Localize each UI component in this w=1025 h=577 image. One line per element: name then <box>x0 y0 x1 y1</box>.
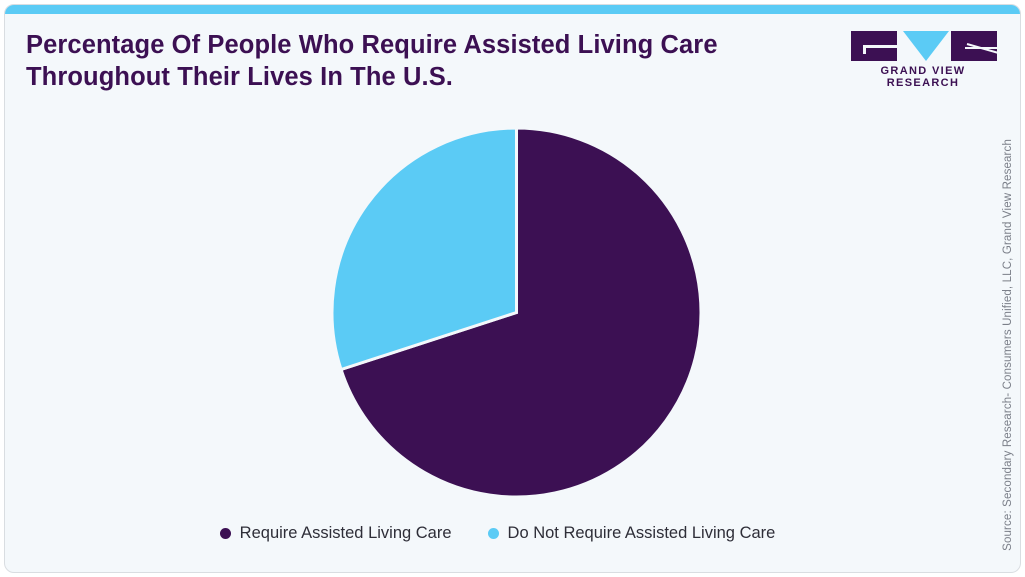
legend-label-require: Require Assisted Living Care <box>240 523 452 543</box>
pie-chart-svg <box>332 128 701 497</box>
chart-legend: Require Assisted Living Care Do Not Requ… <box>5 523 990 543</box>
grand-view-research-logo: GRAND VIEW RESEARCH <box>847 31 999 81</box>
source-note: Source: Secondary Research- Consumers Un… <box>1002 101 1014 551</box>
source-note-text: Source: Secondary Research- Consumers Un… <box>1002 139 1014 551</box>
logo-marks <box>847 31 999 61</box>
legend-dot-icon-require <box>220 528 231 539</box>
pie-slices <box>332 128 701 497</box>
logo-v-icon <box>903 31 949 61</box>
page-title: Percentage Of People Who Require Assiste… <box>26 29 796 93</box>
legend-item-require[interactable]: Require Assisted Living Care <box>220 523 452 543</box>
logo-g-icon <box>851 31 897 61</box>
top-accent-bar <box>5 5 1020 14</box>
logo-r-icon <box>951 31 997 61</box>
legend-label-do-not-require: Do Not Require Assisted Living Care <box>508 523 776 543</box>
chart-page: Percentage Of People Who Require Assiste… <box>0 0 1025 577</box>
logo-wordmark: GRAND VIEW RESEARCH <box>847 65 999 89</box>
legend-dot-icon-do-not-require <box>488 528 499 539</box>
chart-card: Percentage Of People Who Require Assiste… <box>4 4 1021 573</box>
pie-chart <box>332 128 701 497</box>
legend-item-do-not-require[interactable]: Do Not Require Assisted Living Care <box>488 523 776 543</box>
